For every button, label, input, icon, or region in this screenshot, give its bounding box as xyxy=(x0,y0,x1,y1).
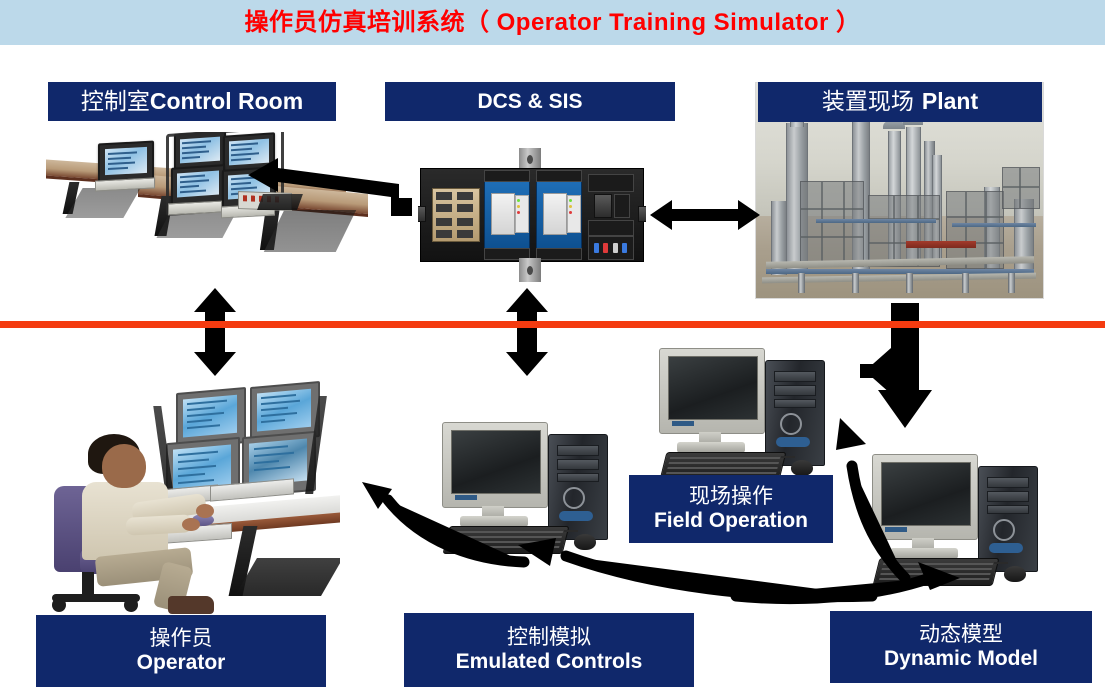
label-plant-cn: 装置现场 xyxy=(822,89,914,115)
real-vs-simulated-divider xyxy=(0,321,1105,328)
label-emulated-controls[interactable]: 控制模拟 Emulated Controls xyxy=(404,613,694,687)
label-dynamic-model[interactable]: 动态模型 Dynamic Model xyxy=(830,611,1092,683)
arrow-emulated-controls-to-operator xyxy=(362,482,524,562)
label-dynamic-model-en: Dynamic Model xyxy=(884,647,1038,671)
arrow-dynamic-model-to-field-operation xyxy=(836,418,905,578)
arrow-control-room-to-operator xyxy=(194,288,236,376)
label-operator-cn: 操作员 xyxy=(150,627,213,651)
label-field-operation-cn: 现场操作 xyxy=(689,485,773,509)
label-emulated-controls-cn: 控制模拟 xyxy=(507,626,591,650)
label-control-room[interactable]: 控制室 Control Room xyxy=(48,82,336,121)
label-control-room-en: Control Room xyxy=(150,89,303,115)
label-operator-en: Operator xyxy=(137,651,226,675)
label-emulated-controls-en: Emulated Controls xyxy=(456,650,643,674)
label-dynamic-model-cn: 动态模型 xyxy=(919,623,1003,647)
arrow-dcs-to-control-room xyxy=(248,158,412,216)
arrow-dcs-to-plant xyxy=(650,200,760,230)
label-plant[interactable]: 装置现场 Plant xyxy=(758,82,1042,122)
label-control-room-cn: 控制室 xyxy=(81,89,150,115)
arrow-head-into-dynamic-model xyxy=(736,562,960,599)
label-plant-en: Plant xyxy=(922,89,978,115)
label-field-operation-en: Field Operation xyxy=(654,509,808,533)
diagram-canvas: 操作员仿真培训系统（ Operator Training Simulator ） xyxy=(0,0,1105,690)
label-field-operation[interactable]: 现场操作 Field Operation xyxy=(629,475,833,543)
label-operator[interactable]: 操作员 Operator xyxy=(36,615,326,687)
arrow-dynamic-model-to-emulated-controls xyxy=(518,538,872,597)
label-dcs-sis[interactable]: DCS & SIS xyxy=(385,82,675,121)
arrow-dcs-to-emulated-controls xyxy=(506,288,548,376)
label-dcs-sis-en: DCS & SIS xyxy=(477,90,582,114)
